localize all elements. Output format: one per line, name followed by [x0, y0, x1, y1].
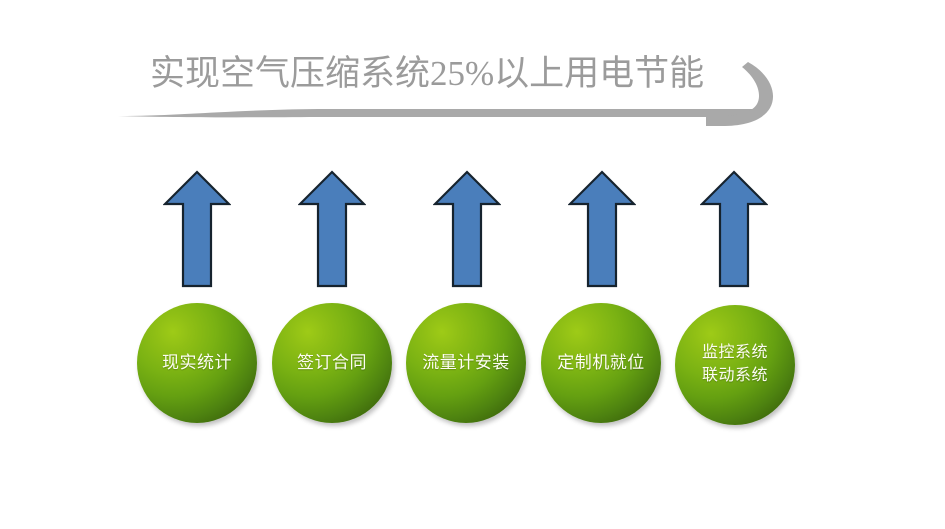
- page-title: 实现空气压缩系统25%以上用电节能: [150, 50, 730, 98]
- slide-canvas: 实现空气压缩系统25%以上用电节能 现实统计 签订合同 流量计安装 定制机就位 …: [0, 0, 945, 529]
- up-arrow-icon-5: [700, 170, 768, 288]
- step-circle-5[interactable]: 监控系统 联动系统: [675, 305, 795, 425]
- step-label-1: 现实统计: [162, 352, 232, 374]
- step-label-3: 流量计安装: [422, 352, 510, 374]
- up-arrow-icon-2: [298, 170, 366, 288]
- up-arrow-icon-4: [568, 170, 636, 288]
- up-arrow-icon-3: [433, 170, 501, 288]
- title-curve-decoration: [700, 48, 800, 128]
- title-underline-bar: [118, 105, 758, 119]
- step-circle-2[interactable]: 签订合同: [272, 303, 392, 423]
- step-label-5: 监控系统 联动系统: [702, 342, 768, 387]
- step-circle-1[interactable]: 现实统计: [137, 303, 257, 423]
- title-block: 实现空气压缩系统25%以上用电节能: [0, 0, 945, 150]
- step-label-4: 定制机就位: [557, 352, 645, 374]
- step-label-2: 签订合同: [297, 352, 367, 374]
- step-circle-3[interactable]: 流量计安装: [406, 303, 526, 423]
- step-circle-4[interactable]: 定制机就位: [541, 303, 661, 423]
- up-arrow-icon-1: [163, 170, 231, 288]
